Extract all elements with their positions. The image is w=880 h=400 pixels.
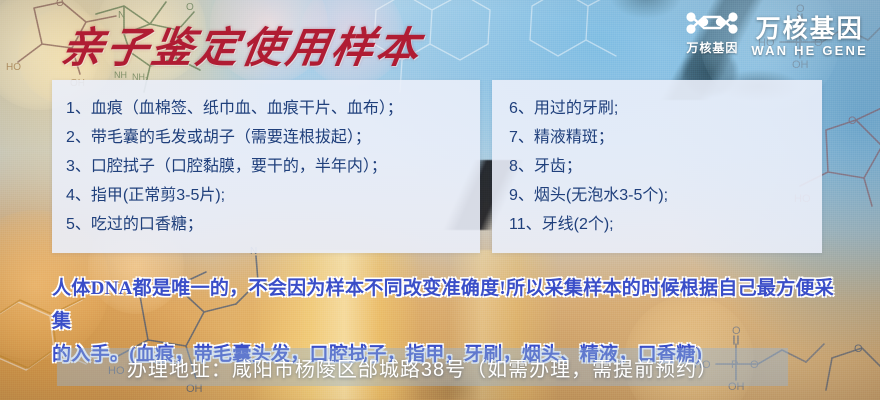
address-text: 办理地址：咸阳市杨陵区邰城路38号（如需办理，需提前预约） [57,348,788,386]
sample-list-panel-right: 6、用过的牙刷; 7、精液精斑； 8、牙齿； 9、烟头(无泡水3-5个); 11… [492,80,822,253]
list-item: 4、指甲(正常剪3-5片); [52,181,480,210]
brand-name-cn: 万核基因 [756,16,864,42]
list-item: 9、烟头(无泡水3-5个); [492,181,822,210]
sample-list-left: 1、血痕（血棉签、纸巾血、血痕干片、血布）； 2、带毛囊的毛发或胡子（需要连根拔… [52,80,480,239]
address-bar: 办理地址：咸阳市杨陵区邰城路38号（如需办理，需提前预约） [57,348,788,386]
list-item: 5、吃过的口香糖； [52,210,480,239]
list-item: 2、带毛囊的毛发或胡子（需要连根拔起）； [52,123,480,152]
list-item: 7、精液精斑； [492,123,822,152]
sample-list-panel-left: 1、血痕（血棉签、纸巾血、血痕干片、血布）； 2、带毛囊的毛发或胡子（需要连根拔… [52,80,480,253]
poster-root: O HO OH N O NH NH₂ [0,0,880,400]
list-item: 3、口腔拭子（口腔黏膜，要干的，半年内）； [52,152,480,181]
molecule-icon [683,11,741,37]
brand-wordmark: 万核基因 WAN HE GENE [751,8,868,58]
page-title: 亲子鉴定使用样本 [57,14,427,75]
sample-list-right: 6、用过的牙刷; 7、精液精斑； 8、牙齿； 9、烟头(无泡水3-5个); 11… [492,80,822,239]
brand-name-en: WAN HE GENE [751,43,868,58]
list-item: 11、牙线(2个); [492,210,822,239]
list-item: 1、血痕（血棉签、纸巾血、血痕干片、血布）； [52,94,480,123]
list-item: 8、牙齿； [492,152,822,181]
brand-mark-label: 万核基因 [686,39,738,56]
brand-logo: 万核基因 万核基因 WAN HE GENE [683,8,868,58]
brand-mark: 万核基因 [683,11,741,56]
list-item: 6、用过的牙刷; [492,94,822,123]
note-line-1: 人体DNA都是唯一的，不会因为样本不同改变准确度!所以采集样本的时候根据自己最方… [52,272,842,338]
